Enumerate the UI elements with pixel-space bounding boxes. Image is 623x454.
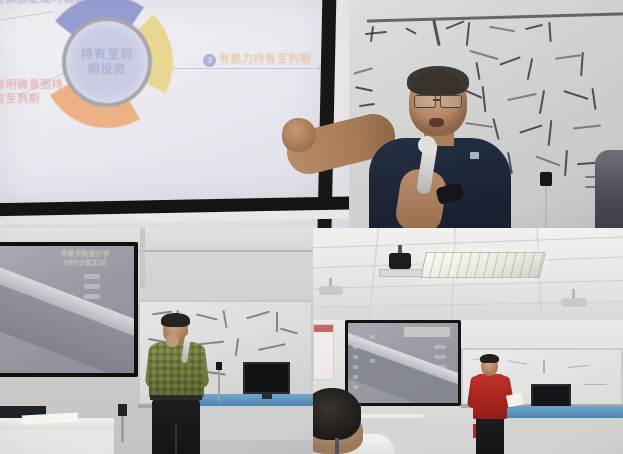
screen-icon [353,335,358,339]
wall-poster-header [314,325,333,332]
whiteboard-mark [583,384,607,385]
projection-screen: 华夏学院会计学 ERP沙盘实训 [0,246,134,373]
whiteboard-mark [535,156,560,167]
screen-title-line-1: 华夏学院会计学 [40,250,130,259]
whiteboard-mark [591,88,596,110]
screen-icon [353,355,358,359]
whiteboard-mark [475,62,480,80]
projection-screen [348,323,458,403]
donut-center-line-2: 期投资 [87,62,126,77]
ceiling-light-grille [420,252,546,278]
presenter-hair [480,354,499,363]
whiteboard-mark [555,54,581,60]
eyeglasses-right-lens [440,95,462,108]
presenter-hair [161,313,190,327]
whiteboard-mark [563,90,588,100]
donut-center-line-1: 持有至到 [81,47,133,62]
whiteboard-mark [355,86,373,92]
whiteboard-rail [367,12,623,22]
ceiling-fan-right [561,298,587,307]
screen-icon [434,355,446,359]
whiteboard-mark [482,86,487,112]
whiteboard-mark [573,125,601,130]
whiteboard-mark [196,313,218,320]
speaker-mouth [429,118,444,127]
screen-icon [353,375,358,379]
front-desk-body [198,406,313,440]
photo-collage: 持有至到 期投资 金额固定或可确定 有明确意图持 有至到期 3 有能力持有至到期 [0,0,623,454]
microphone-on-stand [216,362,222,370]
screen-icon [370,347,375,351]
screen-icon [353,365,358,369]
whiteboard-mark [507,93,537,101]
eyeglasses-left-lens [414,95,436,108]
projector-mount-plate [379,269,423,277]
wall-poster [313,324,334,380]
trouser-seam [175,424,177,454]
panel-bottom-right-classroom [313,228,623,454]
front-desk-body [491,418,623,446]
wall-beam [140,228,145,288]
whiteboard-mark [222,310,227,328]
slide-badge-3: 3 [203,54,216,67]
whiteboard-mark [353,67,373,74]
whiteboard-mark [492,118,499,140]
slide-label-left-line-2: 有至到期 [0,92,63,106]
whiteboard-mark [548,120,553,146]
presenter-hand [166,334,179,347]
donut-center-label: 持有至到 期投资 [62,17,152,107]
screen-icon [370,335,375,339]
presenter-belt [150,395,202,400]
desktop-monitor [243,362,290,394]
whiteboard-mark [469,50,498,60]
whiteboard-mark [465,122,493,128]
panel-bottom-left-presenter: 华夏学院会计学 ERP沙盘实训 [0,228,313,454]
loudspeaker-box [118,404,127,416]
leader-line-right [172,68,322,69]
whiteboard-mark [276,312,278,332]
whiteboard-mark [564,150,568,176]
presenter-dark-trousers [476,418,504,454]
loudspeaker-stand-pole [121,416,124,442]
microphone-on-stand-head [540,172,552,186]
whiteboard-mark [365,31,387,35]
screen-title-bar [404,327,450,337]
audience-member-head [313,388,361,440]
whiteboard-mark [405,27,417,34]
front-desk-top [491,406,623,418]
screen-icon [353,385,358,389]
microphone-stand-pole [545,186,547,228]
whiteboard-mark [525,24,543,30]
ceiling-fan-left [319,286,343,295]
speaker-fist [282,118,316,152]
screen-title-line-2: ERP沙盘实训 [40,259,130,268]
projected-slide: 持有至到 期投资 金额固定或可确定 有明确意图持 有至到期 3 有能力持有至到期 [0,0,332,208]
screen-icon [84,284,100,289]
whiteboard-mark [567,365,589,368]
slide-label-right: 有能力持有至到期 [219,52,311,65]
monitor-stand [262,394,272,399]
shirt-logo [470,152,479,159]
donut-diagram: 持有至到 期投资 [41,0,173,128]
audience-member-lanyard [335,438,339,454]
slide-label-left: 有明确意图持 有至到期 [0,78,63,106]
whiteboard-mark [580,52,584,76]
whiteboard-mark [548,22,551,42]
projection-screen-region: 持有至到 期投资 金额固定或可确定 有明确意图持 有至到期 3 有能力持有至到期 [0,0,349,228]
whiteboard-mark [499,56,520,65]
slide-label-left-line-1: 有明确意图持 [0,78,63,92]
whiteboard-mark [543,360,545,374]
screen-icon [370,359,375,363]
speaker-hair [407,66,469,96]
presenter-red-shirt [473,374,507,419]
whiteboard-mark [527,58,534,80]
partial-person-right-edge [595,150,623,228]
white-table-body [0,430,114,454]
whiteboard-mark [235,338,239,356]
screen-icon [84,294,100,299]
screen-icon [434,365,446,369]
slide-label-top: 金额固定或可确定 [0,0,86,5]
whiteboard-mark [539,90,545,114]
panel-top-speaker: 持有至到 期投资 金额固定或可确定 有明确意图持 有至到期 3 有能力持有至到期 [0,0,623,228]
screen-icon [84,274,100,279]
whiteboard-mark [432,20,440,46]
whiteboard-mark [507,360,527,365]
whiteboard-mark [246,311,269,319]
microphone-stand-pole [218,370,220,402]
screen-title-text: 华夏学院会计学 ERP沙盘实训 [40,250,130,268]
whiteboard-mark [258,343,286,350]
whiteboard-mark [445,20,464,29]
ceiling-projector [389,253,411,269]
screen-icon [353,345,358,349]
eyeglasses-bridge [433,99,441,101]
whiteboard-mark [359,103,375,107]
whiteboard-mark [466,22,470,46]
front-desk-top [198,394,313,406]
screen-icon [434,345,446,349]
presenter-olive-plaid-shirt [149,342,204,398]
whiteboard-mark [198,341,224,345]
whiteboard-mark [489,26,515,32]
whiteboard-mark [280,328,298,334]
whiteboard-mark [519,124,542,133]
